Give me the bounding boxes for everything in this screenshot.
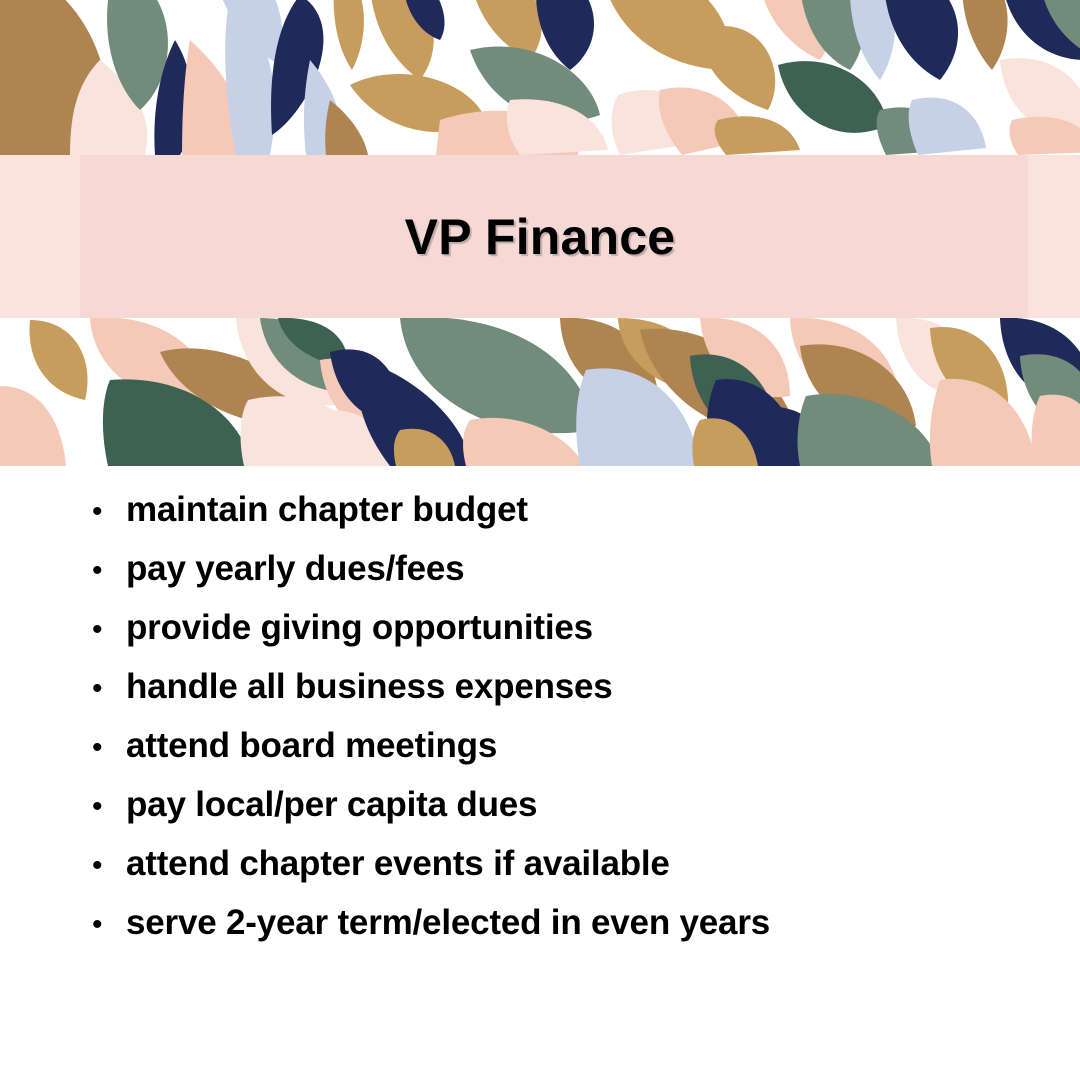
list-item-label: maintain chapter budget [126,492,528,527]
list-item-label: handle all business expenses [126,669,613,704]
list-item-label: provide giving opportunities [126,610,593,645]
bullet-icon: • [92,556,126,586]
bullet-icon: • [92,674,126,704]
list-item-label: attend chapter events if available [126,846,670,881]
list-item: • attend board meetings [0,728,1080,787]
bullet-icon: • [92,615,126,645]
duties-list: • maintain chapter budget • pay yearly d… [0,492,1080,964]
list-item: • maintain chapter budget [0,492,1080,551]
list-item-label: serve 2-year term/elected in even years [126,905,770,940]
list-item: • pay local/per capita dues [0,787,1080,846]
list-item: • provide giving opportunities [0,610,1080,669]
bullet-icon: • [92,910,126,940]
list-item-label: attend board meetings [126,728,497,763]
list-item: • pay yearly dues/fees [0,551,1080,610]
list-item-label: pay local/per capita dues [126,787,537,822]
bullet-icon: • [92,497,126,527]
bullet-icon: • [92,792,126,822]
bullet-icon: • [92,733,126,763]
list-item-label: pay yearly dues/fees [126,551,464,586]
slide-canvas: VP Finance • maintain chapter budget • p… [0,0,1080,1080]
title-banner: VP Finance [0,155,1080,318]
list-item: • serve 2-year term/elected in even year… [0,905,1080,964]
list-item: • handle all business expenses [0,669,1080,728]
list-item: • attend chapter events if available [0,846,1080,905]
page-title: VP Finance [0,155,1080,318]
bullet-icon: • [92,851,126,881]
